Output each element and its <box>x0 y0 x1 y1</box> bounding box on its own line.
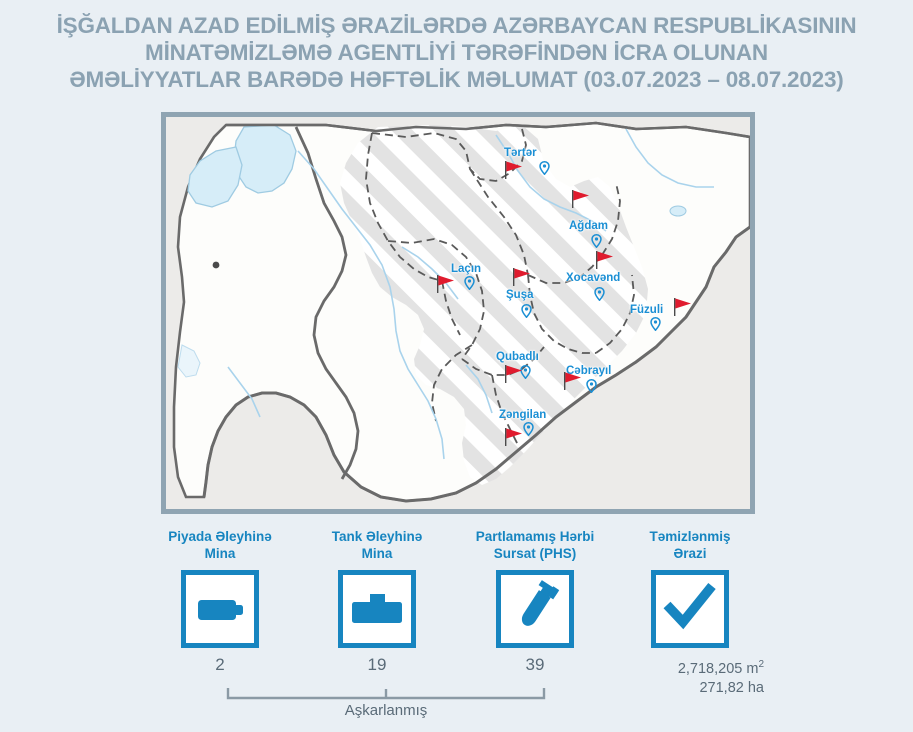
legend-title-anti-tank-mine: Tank Əleyhinə Mina <box>297 528 457 562</box>
map-pin-icon-fuzuli <box>650 317 661 331</box>
map-flag-icon-fuzuli <box>672 297 694 317</box>
map-pin-icon-cebrayil <box>586 379 597 393</box>
map-graphic <box>166 117 750 509</box>
legend-item-anti-personnel-mine[interactable]: Piyada Əleyhinə Mina 2 <box>140 528 300 675</box>
unexploded-ordnance-icon <box>501 575 569 643</box>
legend-item-unexploded-ordnance[interactable]: Partlamamış Hərbi Sursat (PHS) 39 <box>455 528 615 675</box>
legend-title-cleared-area: Təmizlənmiş Ərazi <box>610 528 770 562</box>
legend-area-sqm-exponent: 2 <box>758 659 764 670</box>
legend-count-anti-personnel-mine: 2 <box>140 655 300 675</box>
bracket-label: Aşkarlanmış <box>226 702 546 719</box>
anti-personnel-mine-icon <box>186 575 254 643</box>
map-flag-icon-lacin <box>435 274 457 294</box>
legend-icon-box-anti-personnel-mine <box>181 570 259 648</box>
map-pin-icon-agdam <box>591 234 602 248</box>
legend-item-anti-tank-mine[interactable]: Tank Əleyhinə Mina 19 <box>297 528 457 675</box>
map-pin-icon-susa <box>521 304 532 318</box>
map-flag-icon-cebrayil <box>562 371 584 391</box>
legend-panel: Piyada Əleyhinə Mina 2 Tank Əleyhinə Min… <box>140 528 800 728</box>
legend-area-ha: 271,82 ha <box>699 680 764 696</box>
legend-title-anti-personnel-mine: Piyada Əleyhinə Mina <box>140 528 300 562</box>
legend-icon-box-cleared-area <box>651 570 729 648</box>
legend-icon-box-unexploded-ordnance <box>496 570 574 648</box>
legend-count-anti-tank-mine: 19 <box>297 655 457 675</box>
legend-title-unexploded-ordnance: Partlamamış Hərbi Sursat (PHS) <box>455 528 615 562</box>
map-flag-icon-zengilan <box>503 427 525 447</box>
legend-count-unexploded-ordnance: 39 <box>455 655 615 675</box>
map-pin-icon-terter <box>539 161 550 175</box>
checkmark-icon <box>656 575 724 643</box>
map-flag-icon-qubadli <box>503 364 525 384</box>
page-title: İŞĞALDAN AZAD EDİLMİŞ ƏRAZİLƏRDƏ AZƏRBAY… <box>0 0 913 93</box>
legend-area-cleared: 2,718,205 m2 271,82 ha <box>610 655 770 698</box>
map-flag-icon-susa <box>511 267 533 287</box>
map-flag-icon-agdam <box>570 189 592 209</box>
legend-item-cleared-area[interactable]: Təmizlənmiş Ərazi 2,718,205 m2 271,82 ha <box>610 528 770 698</box>
map-pin-icon-xocavend <box>594 287 605 301</box>
aggregate-bracket: Aşkarlanmış <box>226 686 546 732</box>
legend-icon-box-anti-tank-mine <box>338 570 416 648</box>
legend-area-sqm: 2,718,205 m <box>678 661 759 677</box>
map-flag-icon-xocavend <box>594 250 616 270</box>
title-line-3: ƏMƏLİYYATLAR BARƏDƏ HƏFTƏLİK MƏLUMAT (03… <box>0 66 913 93</box>
anti-tank-mine-icon <box>343 575 411 643</box>
map-flag-icon-terter <box>503 160 525 180</box>
title-line-2: MİNATƏMİZLƏMƏ AGENTLİYİ TƏRƏFİNDƏN İCRA … <box>0 39 913 66</box>
map-panel: TərtərAğdamLaçınŞuşaXocavəndFüzuliQubadl… <box>161 112 755 514</box>
map-pin-icon-lacin <box>464 276 475 290</box>
title-line-1: İŞĞALDAN AZAD EDİLMİŞ ƏRAZİLƏRDƏ AZƏRBAY… <box>0 12 913 39</box>
